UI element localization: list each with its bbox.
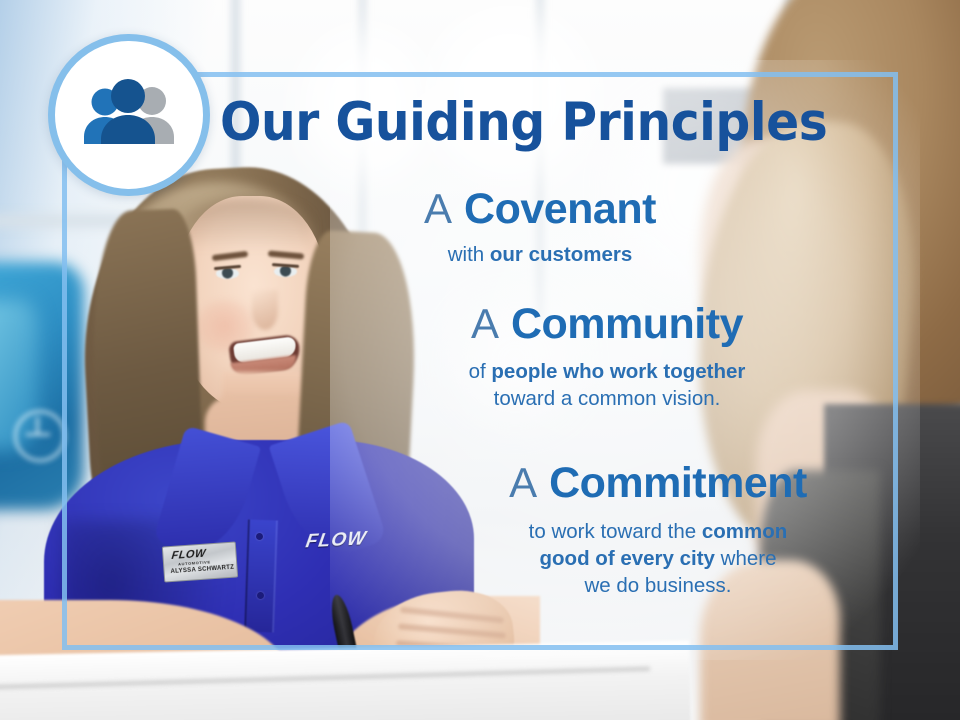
subtext-plain: of (469, 360, 492, 383)
subtext-plain: with (448, 243, 490, 266)
banner-canvas: FLOW FLOW AUTOMOTIVE ALYSSA SCHWARTZ (0, 0, 960, 720)
principle-article: A (471, 300, 499, 347)
subtext-plain-two: where (715, 547, 777, 570)
page-title: Our Guiding Principles (220, 96, 827, 149)
employee-nose (252, 290, 278, 330)
principle-article: A (424, 185, 452, 232)
subtext-bold: people who work together (491, 360, 745, 383)
white-table (0, 641, 691, 720)
employee-forehead-shading (183, 198, 313, 250)
principle-commitment: A Commitment to work toward the common g… (432, 462, 884, 599)
employee-eye (274, 266, 297, 277)
name-badge-division: AUTOMOTIVE (178, 559, 211, 566)
principle-subtext: with our customers (330, 241, 750, 268)
subtext-bold: common (702, 520, 787, 543)
subtext-bold: our customers (490, 243, 632, 266)
polo-button (257, 592, 264, 599)
principle-community: A Community of people who work together … (372, 303, 842, 412)
people-group-icon (77, 79, 181, 151)
principle-article: A (509, 459, 537, 506)
employee-name-badge: FLOW AUTOMOTIVE ALYSSA SCHWARTZ (162, 541, 238, 582)
polo-button (256, 533, 263, 540)
subtext-bold-two: good of every city (540, 547, 715, 570)
principle-keyword: Covenant (464, 185, 656, 233)
principle-title: A Commitment (432, 462, 884, 506)
principle-subtext: to work toward the common good of every … (432, 518, 884, 599)
subtext-line-two: toward a common vision. (494, 387, 721, 410)
principle-subtext: of people who work together toward a com… (372, 358, 842, 412)
principle-covenant: A Covenant with our customers (330, 188, 750, 268)
people-group-badge (48, 34, 210, 196)
principle-title: A Community (372, 303, 842, 347)
subtext-plain: to work toward the (529, 520, 702, 543)
subtext-line-two: we do business. (584, 574, 731, 597)
vw-roundel-icon (14, 410, 66, 462)
flow-chest-logo: FLOW (304, 528, 368, 553)
principle-keyword: Commitment (549, 459, 807, 507)
principle-keyword: Community (511, 300, 743, 348)
principle-title: A Covenant (330, 188, 750, 232)
